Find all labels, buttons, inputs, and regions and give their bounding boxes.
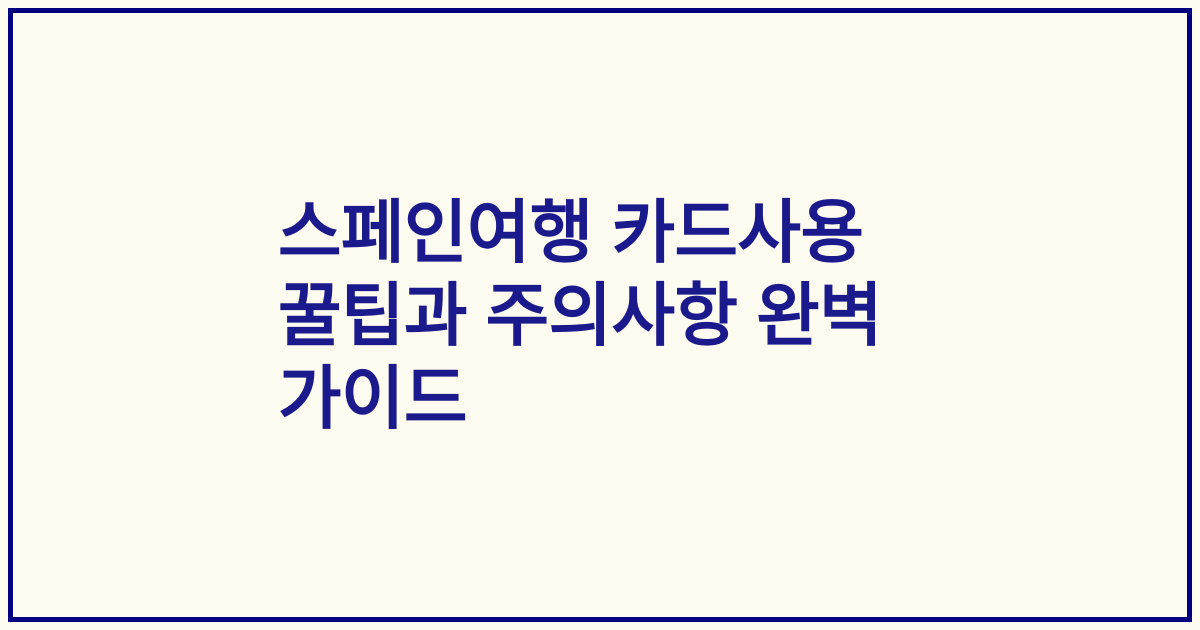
card-content-area: 스페인여행 카드사용 꿀팁과 주의사항 완벽 가이드 (13, 13, 1187, 617)
page-title: 스페인여행 카드사용 꿀팁과 주의사항 완벽 가이드 (278, 191, 882, 440)
title-line-3: 가이드 (278, 357, 882, 440)
title-line-2: 꿀팁과 주의사항 완벽 (278, 274, 882, 357)
title-line-1: 스페인여행 카드사용 (278, 191, 882, 274)
og-card: 스페인여행 카드사용 꿀팁과 주의사항 완벽 가이드 (0, 0, 1200, 630)
